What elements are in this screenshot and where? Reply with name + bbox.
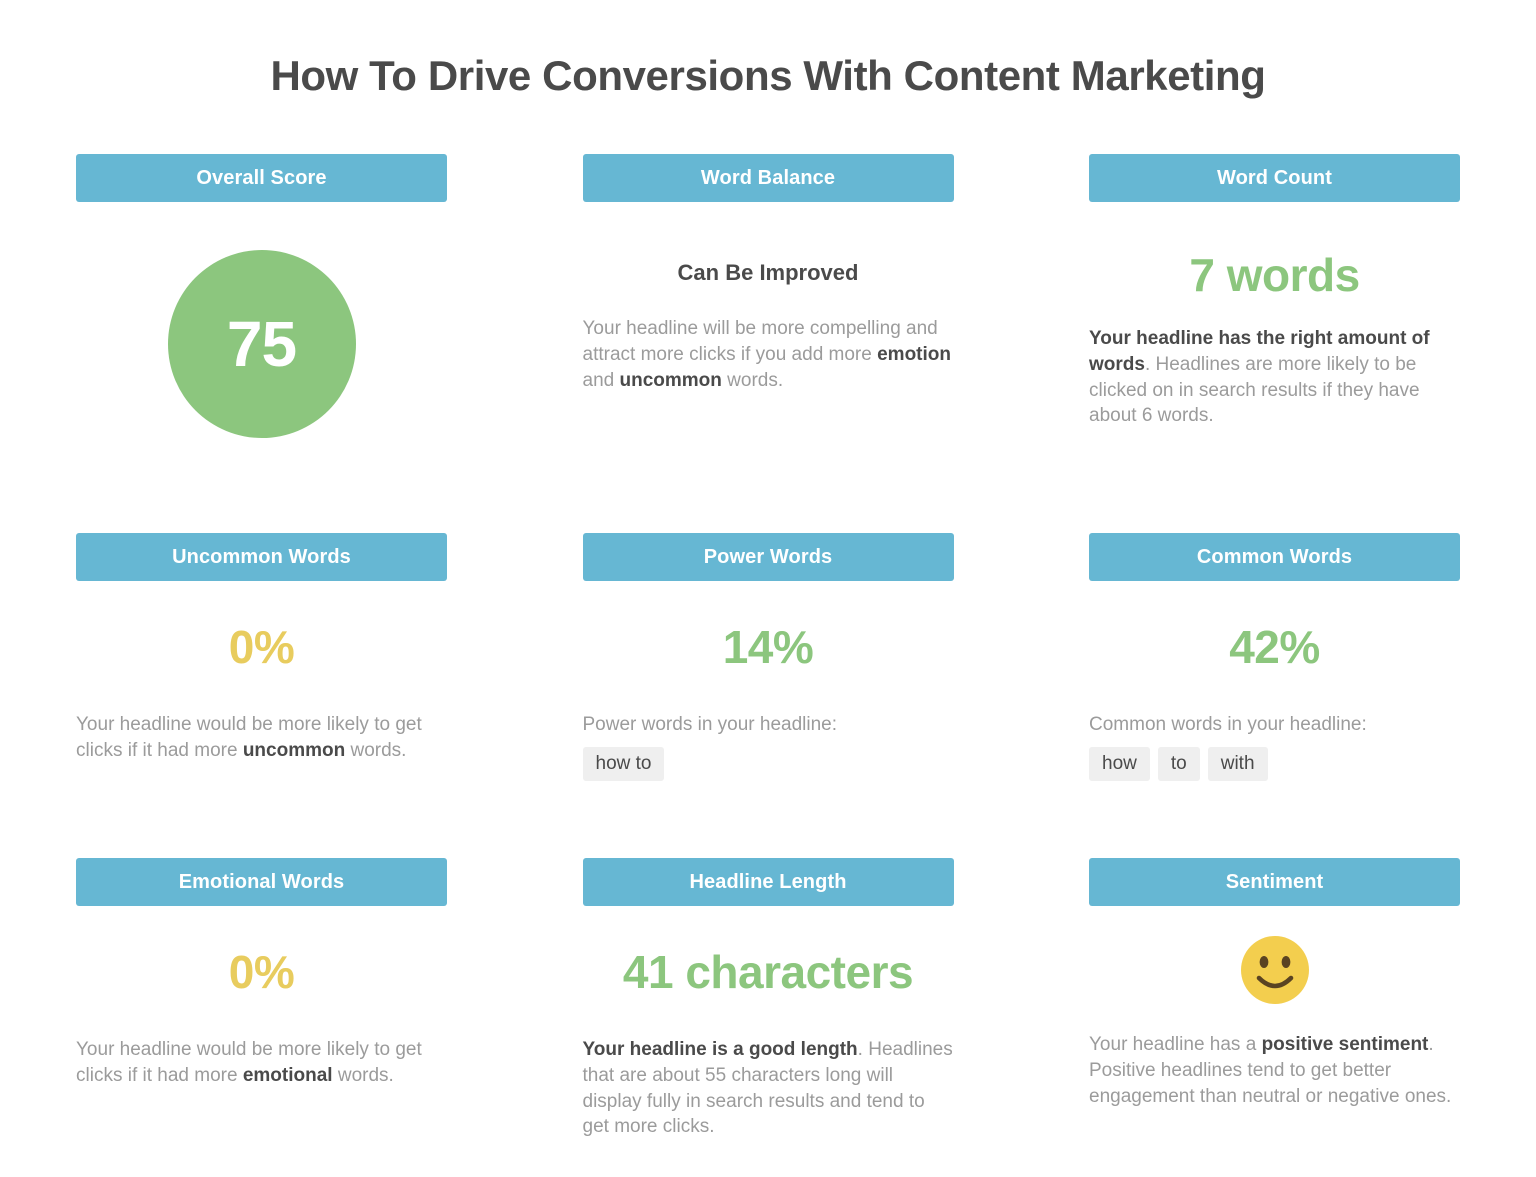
card-header-label: Emotional Words [179,871,345,894]
sentiment-description: Your headline has a positive sentiment. … [1089,1032,1460,1109]
desc-text: and [583,370,620,391]
card-header-label: Overall Score [196,167,326,190]
card-headline-length: Headline Length 41 characters Your headl… [583,858,954,1140]
desc-emphasis: emotional [243,1065,333,1086]
desc-text: Your headline has a [1089,1034,1262,1055]
card-header-label: Word Count [1217,167,1332,190]
card-body-word-count: 7 words Your headline has the right amou… [1089,252,1460,429]
word-balance-description: Your headline will be more compelling an… [583,316,954,393]
word-chip: to [1158,747,1200,781]
score-circle-wrap: 75 [76,250,447,438]
card-body-common-words: 42% Common words in your headline: how t… [1089,624,1460,780]
card-header-common-words: Common Words [1089,533,1460,581]
desc-text: words. [345,740,406,761]
card-overall-score: Overall Score 75 [76,154,447,479]
card-word-count: Word Count 7 words Your headline has the… [1089,154,1460,479]
headline-length-description: Your headline is a good length. Headline… [583,1037,954,1140]
word-count-description: Your headline has the right amount of wo… [1089,326,1460,429]
card-body-overall-score: 75 [76,250,447,438]
sentiment-face-wrap [1089,934,1460,1006]
common-words-chips-label: Common words in your headline: [1089,712,1460,738]
desc-emphasis: uncommon [619,370,721,391]
smiley-face-positive-icon [1239,934,1311,1006]
word-chip: how to [583,747,665,781]
word-count-value: 7 words [1089,252,1460,298]
card-header-sentiment: Sentiment [1089,858,1460,906]
power-words-chips-label: Power words in your headline: [583,712,954,738]
word-chip: how [1089,747,1150,781]
card-power-words: Power Words 14% Power words in your head… [583,533,954,858]
word-balance-verdict: Can Be Improved [583,260,954,286]
card-header-overall-score: Overall Score [76,154,447,202]
card-header-headline-length: Headline Length [583,858,954,906]
card-header-label: Uncommon Words [172,546,351,569]
desc-emphasis: emotion [877,344,951,365]
common-words-percent: 42% [1089,624,1460,670]
card-header-power-words: Power Words [583,533,954,581]
card-header-label: Word Balance [701,167,835,190]
card-row-3: Emotional Words 0% Your headline would b… [0,858,1536,1140]
uncommon-words-description: Your headline would be more likely to ge… [76,712,447,763]
power-words-percent: 14% [583,624,954,670]
card-header-label: Sentiment [1226,871,1324,894]
desc-emphasis: uncommon [243,740,345,761]
desc-emphasis: Your headline is a good length [583,1039,858,1060]
card-body-emotional-words: 0% Your headline would be more likely to… [76,949,447,1088]
common-words-chip-list: how to with [1089,747,1460,781]
card-emotional-words: Emotional Words 0% Your headline would b… [76,858,447,1140]
overall-score-value: 75 [227,307,296,381]
card-body-power-words: 14% Power words in your headline: how to [583,624,954,780]
card-sentiment: Sentiment Your headline has a positive s… [1089,858,1460,1140]
desc-text: words. [722,370,783,391]
headline-analyzer-report: How To Drive Conversions With Content Ma… [0,0,1536,1177]
word-chip: with [1208,747,1268,781]
uncommon-words-percent: 0% [76,624,447,670]
emotional-words-description: Your headline would be more likely to ge… [76,1037,447,1088]
card-body-sentiment: Your headline has a positive sentiment. … [1089,934,1460,1109]
power-words-chip-list: how to [583,747,954,781]
card-word-balance: Word Balance Can Be Improved Your headli… [583,154,954,479]
card-row-2: Uncommon Words 0% Your headline would be… [0,533,1536,858]
headline-length-value: 41 characters [583,949,954,995]
desc-text: words. [333,1065,394,1086]
desc-emphasis: positive sentiment [1262,1034,1429,1055]
card-row-1: Overall Score 75 Word Balance Can Be Imp… [0,154,1536,479]
card-header-emotional-words: Emotional Words [76,858,447,906]
card-header-label: Common Words [1197,546,1352,569]
overall-score-circle: 75 [168,250,356,438]
card-body-headline-length: 41 characters Your headline is a good le… [583,949,954,1140]
page-title: How To Drive Conversions With Content Ma… [0,0,1536,100]
card-header-word-balance: Word Balance [583,154,954,202]
card-header-label: Headline Length [689,871,846,894]
card-body-uncommon-words: 0% Your headline would be more likely to… [76,624,447,763]
card-header-label: Power Words [704,546,833,569]
card-header-word-count: Word Count [1089,154,1460,202]
card-uncommon-words: Uncommon Words 0% Your headline would be… [76,533,447,858]
emotional-words-percent: 0% [76,949,447,995]
card-header-uncommon-words: Uncommon Words [76,533,447,581]
card-body-word-balance: Can Be Improved Your headline will be mo… [583,260,954,393]
card-common-words: Common Words 42% Common words in your he… [1089,533,1460,858]
